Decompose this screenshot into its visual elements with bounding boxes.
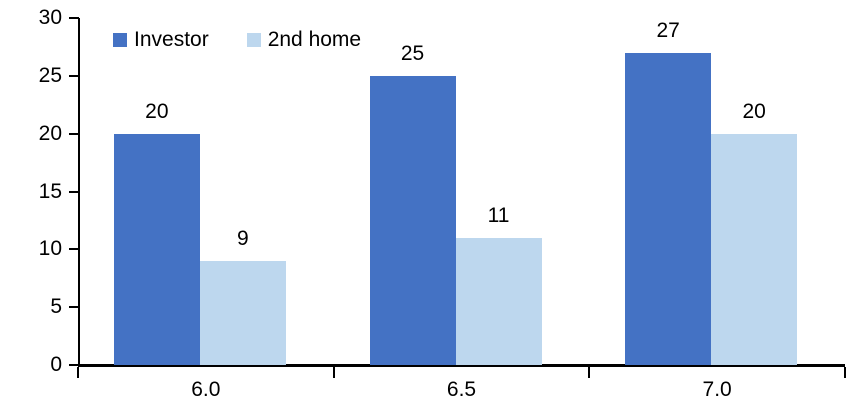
legend-label: 2nd home [268,29,361,50]
x-axis-tick [77,367,79,378]
bar [711,134,797,365]
y-axis-tick-label: 10 [0,238,62,259]
x-axis-category-label: 7.0 [657,379,777,400]
x-axis-tick [333,367,335,378]
y-axis-tick-label: 30 [0,7,62,28]
bar [456,238,542,365]
y-axis-tick-label: 20 [0,123,62,144]
bar-value-label: 20 [704,101,804,122]
bar [625,53,711,365]
bar-value-label: 25 [363,43,463,64]
bar-chart: 302520151050 6.06.57.0 20925112720 Inves… [0,0,852,410]
legend-label: Investor [134,29,209,50]
y-axis-tick-label: 25 [0,65,62,86]
legend-swatch-icon [247,33,261,47]
bar-value-label: 20 [107,101,207,122]
bar [370,76,456,365]
legend-swatch-icon [113,33,127,47]
plot-area: 20925112720 [78,18,845,365]
y-axis-tick-label: 0 [0,354,62,375]
x-axis-tick [844,367,846,378]
y-axis-tick-label: 15 [0,181,62,202]
x-axis-category-label: 6.0 [146,379,266,400]
legend-item[interactable]: Investor [113,29,209,50]
legend-item[interactable]: 2nd home [247,29,361,50]
bar-value-label: 27 [618,20,718,41]
x-axis-category-label: 6.5 [402,379,522,400]
bar-value-label: 9 [193,228,293,249]
bar [114,134,200,365]
bar [200,261,286,365]
x-axis-tick [588,367,590,378]
y-axis-tick-label: 5 [0,296,62,317]
chart-legend: Investor2nd home [113,29,361,50]
bar-value-label: 11 [449,205,549,226]
